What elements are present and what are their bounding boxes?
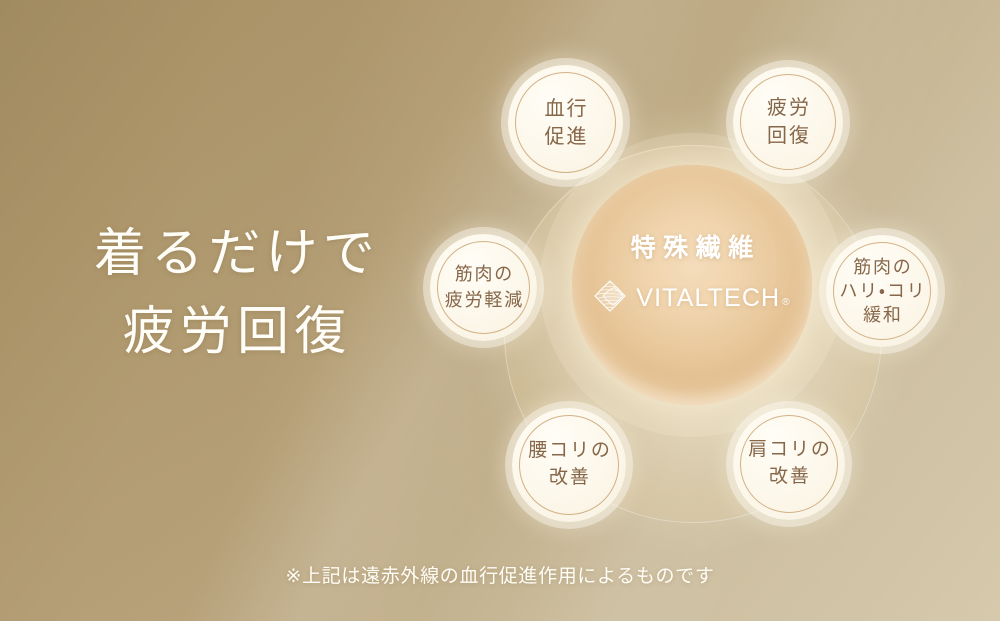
benefit-line: 回復 (765, 122, 811, 150)
benefit-line: 肩コリの (746, 437, 832, 464)
benefit-bubble-fatigue-recovery[interactable]: 疲労 回復 (733, 67, 843, 177)
benefit-line: 改善 (526, 465, 612, 492)
benefit-line: 筋肉の (838, 255, 927, 279)
footnote-text: ※上記は遠赤外線の血行促進作用によるものです (0, 561, 1000, 588)
benefit-label: 腰コリの 改善 (526, 438, 612, 491)
benefit-line: 改善 (746, 464, 832, 491)
benefit-label: 肩コリの 改善 (746, 437, 832, 490)
benefit-line: 疲労軽減 (443, 288, 524, 313)
benefit-label: 筋肉の ハリ・コリ 緩和 (838, 255, 927, 327)
benefit-line: 血行 (543, 95, 589, 123)
brand-logo: VITALTECH ® (572, 279, 812, 318)
registered-mark: ® (782, 298, 791, 308)
benefit-line: 腰コリの (526, 438, 612, 465)
center-title: 特殊繊維 (572, 236, 812, 261)
vitaltech-diamond-icon (593, 279, 627, 318)
brand-wordmark: VITALTECH (636, 286, 780, 311)
benefit-bubble-muscle-fatigue[interactable]: 筋肉の 疲労軽減 (430, 234, 537, 341)
benefit-bubble-blood-circulation[interactable]: 血行 促進 (508, 65, 623, 180)
promo-banner: 着るだけで 疲労回復 特殊繊維 (0, 0, 1000, 621)
center-content: 特殊繊維 (572, 236, 812, 318)
benefit-label: 筋肉の 疲労軽減 (443, 262, 524, 312)
benefit-cluster: 特殊繊維 (0, 0, 1000, 621)
benefit-label: 疲労 回復 (765, 94, 811, 150)
benefit-bubble-muscle-stiffness[interactable]: 筋肉の ハリ・コリ 緩和 (826, 235, 938, 347)
benefit-line: 促進 (543, 123, 589, 151)
benefit-line: 緩和 (838, 303, 927, 327)
brand-name: VITALTECH ® (636, 286, 790, 311)
benefit-label: 血行 促進 (543, 95, 589, 151)
benefit-bubble-shoulder[interactable]: 肩コリの 改善 (733, 408, 845, 520)
benefit-bubble-lower-back[interactable]: 腰コリの 改善 (512, 408, 626, 522)
benefit-line: 疲労 (765, 94, 811, 122)
benefit-line: 筋肉の (443, 262, 524, 287)
benefit-line: ハリ・コリ (838, 279, 927, 303)
